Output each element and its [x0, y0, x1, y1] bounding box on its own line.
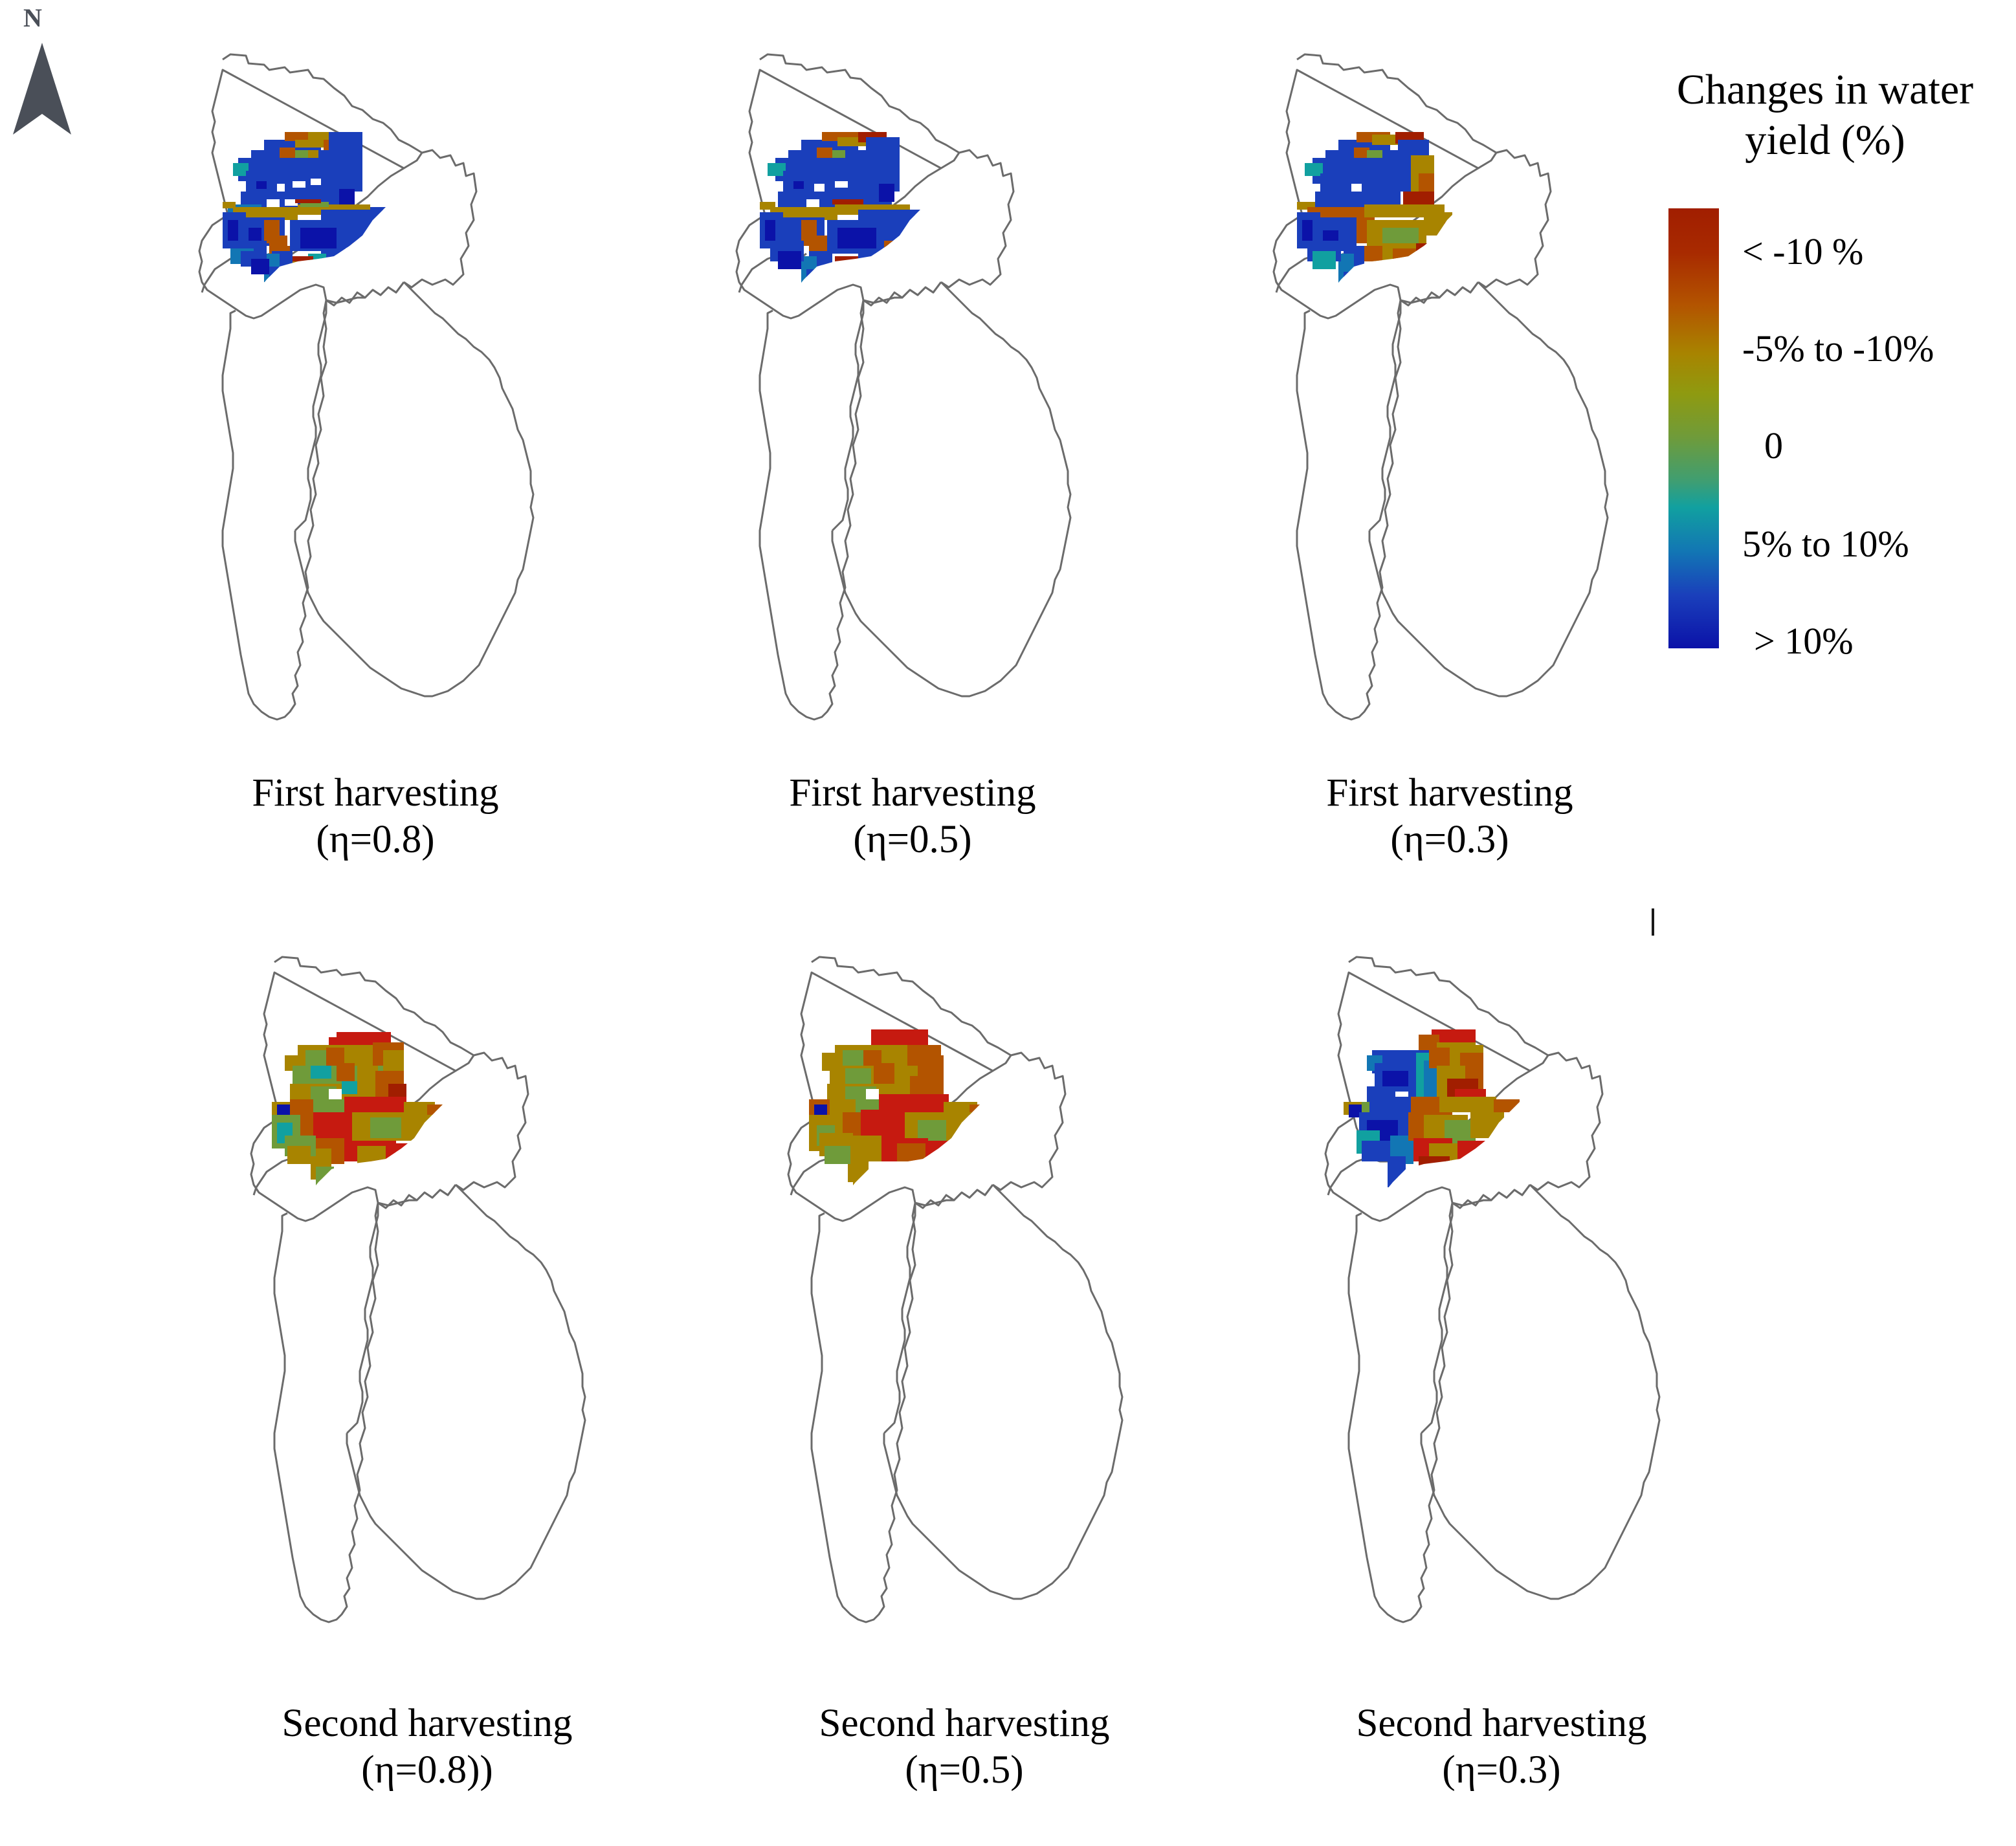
north-arrow-icon: [6, 39, 78, 136]
legend-colorbar: [1668, 208, 1719, 648]
legend-label-lt-minus-10: < -10 %: [1742, 233, 1863, 270]
water-yield-raster: [272, 1032, 445, 1208]
watershed-map: [155, 39, 595, 764]
map-panel-second-harvesting-eta-0-8[interactable]: [207, 941, 647, 1666]
watershed-map: [207, 941, 647, 1666]
map-caption: Second harvesting (η=0.8)): [207, 1700, 647, 1794]
map-caption: Second harvesting (η=0.5): [744, 1700, 1184, 1794]
north-arrow-label: N: [23, 5, 43, 31]
water-yield-raster: [223, 132, 388, 303]
map-caption: First harvesting (η=0.8): [155, 770, 595, 863]
legend: Changes in water yield (%) < -10 % -5% t…: [1644, 65, 2006, 686]
map-panel-first-harvesting-eta-0-5[interactable]: [692, 39, 1133, 764]
figure-canvas: N: [0, 0, 2016, 1846]
stray-tick-mark: [1652, 908, 1654, 936]
watershed-map: [744, 941, 1184, 1666]
map-panel-first-harvesting-eta-0-8[interactable]: [155, 39, 595, 764]
legend-label-5-to-10: 5% to 10%: [1742, 525, 1909, 563]
map-caption: First harvesting (η=0.3): [1230, 770, 1670, 863]
map-caption: Second harvesting (η=0.3): [1281, 1700, 1722, 1794]
water-yield-raster: [1344, 1029, 1520, 1208]
legend-label-zero: 0: [1764, 427, 1783, 465]
map-panel-second-harvesting-eta-0-5[interactable]: [744, 941, 1184, 1666]
legend-title: Changes in water yield (%): [1644, 65, 2006, 166]
watershed-map: [1230, 39, 1670, 764]
legend-label-minus-5-to-minus-10: -5% to -10%: [1742, 330, 1934, 368]
map-caption: First harvesting (η=0.5): [692, 770, 1133, 863]
water-yield-raster: [760, 132, 925, 305]
watershed-map: [692, 39, 1133, 764]
watershed-map: [1281, 941, 1722, 1666]
watershed-outline: [737, 54, 1070, 720]
north-arrow: N: [6, 5, 91, 135]
watershed-outline: [1274, 54, 1608, 720]
watershed-outline: [199, 54, 533, 720]
legend-label-list: < -10 % -5% to -10% 0 5% to 10% > 10%: [1742, 208, 2001, 661]
water-yield-raster: [809, 1029, 990, 1208]
water-yield-raster: [1297, 132, 1460, 305]
map-panel-second-harvesting-eta-0-3[interactable]: [1281, 941, 1722, 1666]
map-panel-first-harvesting-eta-0-3[interactable]: [1230, 39, 1670, 764]
legend-label-gt-10: > 10%: [1754, 622, 1854, 660]
